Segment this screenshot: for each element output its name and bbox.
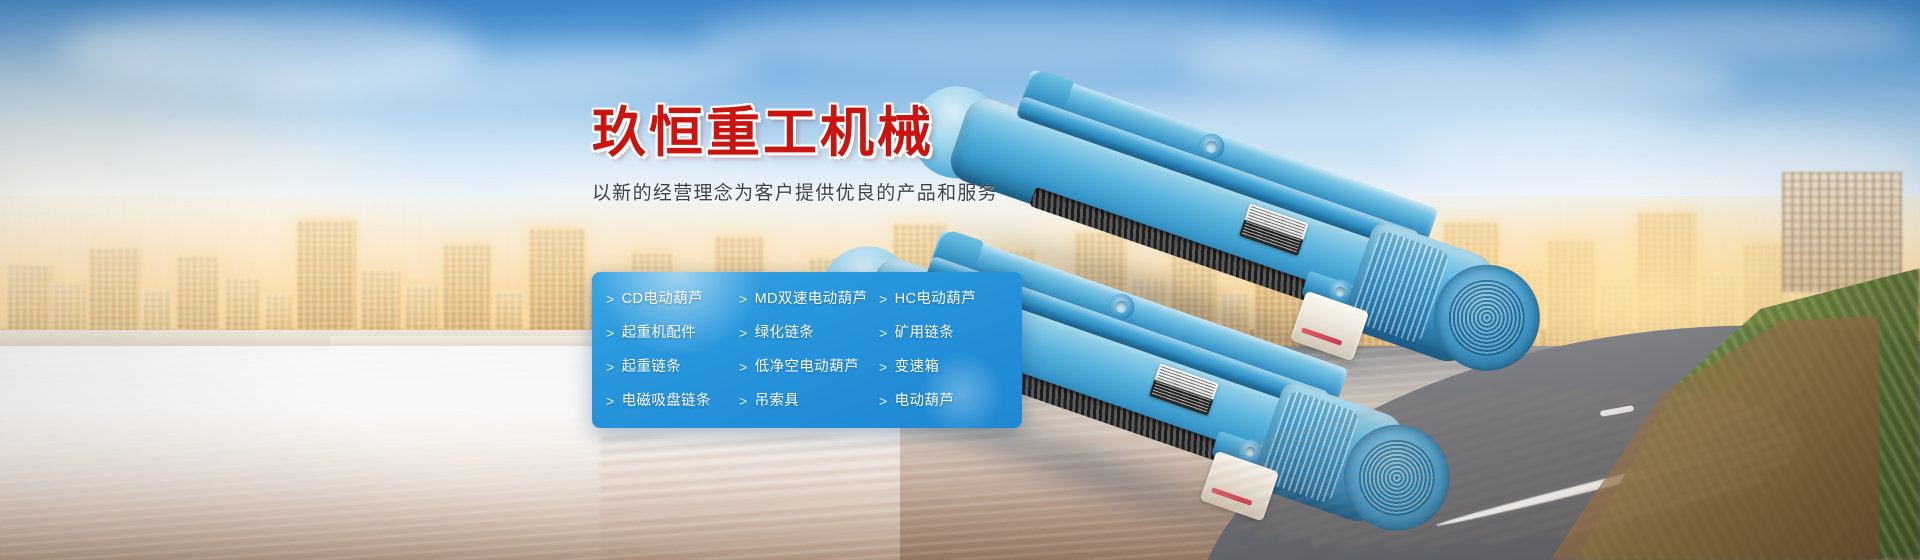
product-category-link[interactable]: >起重机配件	[606, 316, 739, 350]
chevron-right-icon: >	[879, 292, 888, 306]
product-category-box: >CD电动葫芦>MD双速电动葫芦>HC电动葫芦>起重机配件>绿化链条>矿用链条>…	[592, 272, 1022, 428]
chevron-right-icon: >	[606, 326, 615, 340]
control-box-label	[1301, 327, 1342, 345]
product-category-link[interactable]: >电动葫芦	[879, 384, 1022, 418]
product-category-grid: >CD电动葫芦>MD双速电动葫芦>HC电动葫芦>起重机配件>绿化链条>矿用链条>…	[592, 272, 1022, 428]
chevron-right-icon: >	[879, 326, 888, 340]
chevron-right-icon: >	[606, 360, 615, 374]
product-category-label: 电动葫芦	[895, 394, 955, 409]
product-category-link[interactable]: >吊索具	[739, 384, 879, 418]
product-category-link[interactable]: >变速箱	[879, 350, 1022, 384]
product-category-label: 矿用链条	[895, 326, 955, 341]
chevron-right-icon: >	[739, 292, 748, 306]
banner-subtitle: 以新的经营理念为客户提供优良的产品和服务	[592, 178, 1042, 205]
product-category-label: MD双速电动葫芦	[755, 292, 868, 307]
chevron-right-icon: >	[739, 394, 748, 408]
product-category-label: CD电动葫芦	[622, 292, 703, 307]
product-category-label: 低净空电动葫芦	[755, 360, 859, 375]
product-category-label: HC电动葫芦	[895, 292, 976, 307]
product-category-label: 绿化链条	[755, 326, 815, 341]
product-category-link[interactable]: >矿用链条	[879, 316, 1022, 350]
product-category-label: 变速箱	[895, 360, 940, 375]
chevron-right-icon: >	[739, 326, 748, 340]
promo-banner: 玖恒重工机械 以新的经营理念为客户提供优良的产品和服务 >CD电动葫芦>MD双速…	[0, 0, 1920, 560]
product-category-link[interactable]: >起重链条	[606, 350, 739, 384]
chevron-right-icon: >	[606, 292, 615, 306]
product-category-link[interactable]: >HC电动葫芦	[879, 282, 1022, 316]
product-category-label: 吊索具	[755, 394, 800, 409]
product-category-link[interactable]: >绿化链条	[739, 316, 879, 350]
product-category-label: 起重链条	[622, 360, 682, 375]
product-category-link[interactable]: >CD电动葫芦	[606, 282, 739, 316]
chevron-right-icon: >	[879, 360, 888, 374]
chevron-right-icon: >	[606, 394, 615, 408]
page-title: 玖恒重工机械	[592, 106, 1042, 160]
product-category-link[interactable]: >电磁吸盘链条	[606, 384, 739, 418]
product-category-link[interactable]: >MD双速电动葫芦	[739, 282, 879, 316]
product-category-label: 起重机配件	[622, 326, 697, 341]
product-category-label: 电磁吸盘链条	[622, 394, 711, 409]
banner-text-block: 玖恒重工机械 以新的经营理念为客户提供优良的产品和服务	[592, 106, 1042, 205]
chevron-right-icon: >	[739, 360, 748, 374]
chevron-right-icon: >	[879, 394, 888, 408]
product-category-link[interactable]: >低净空电动葫芦	[739, 350, 879, 384]
